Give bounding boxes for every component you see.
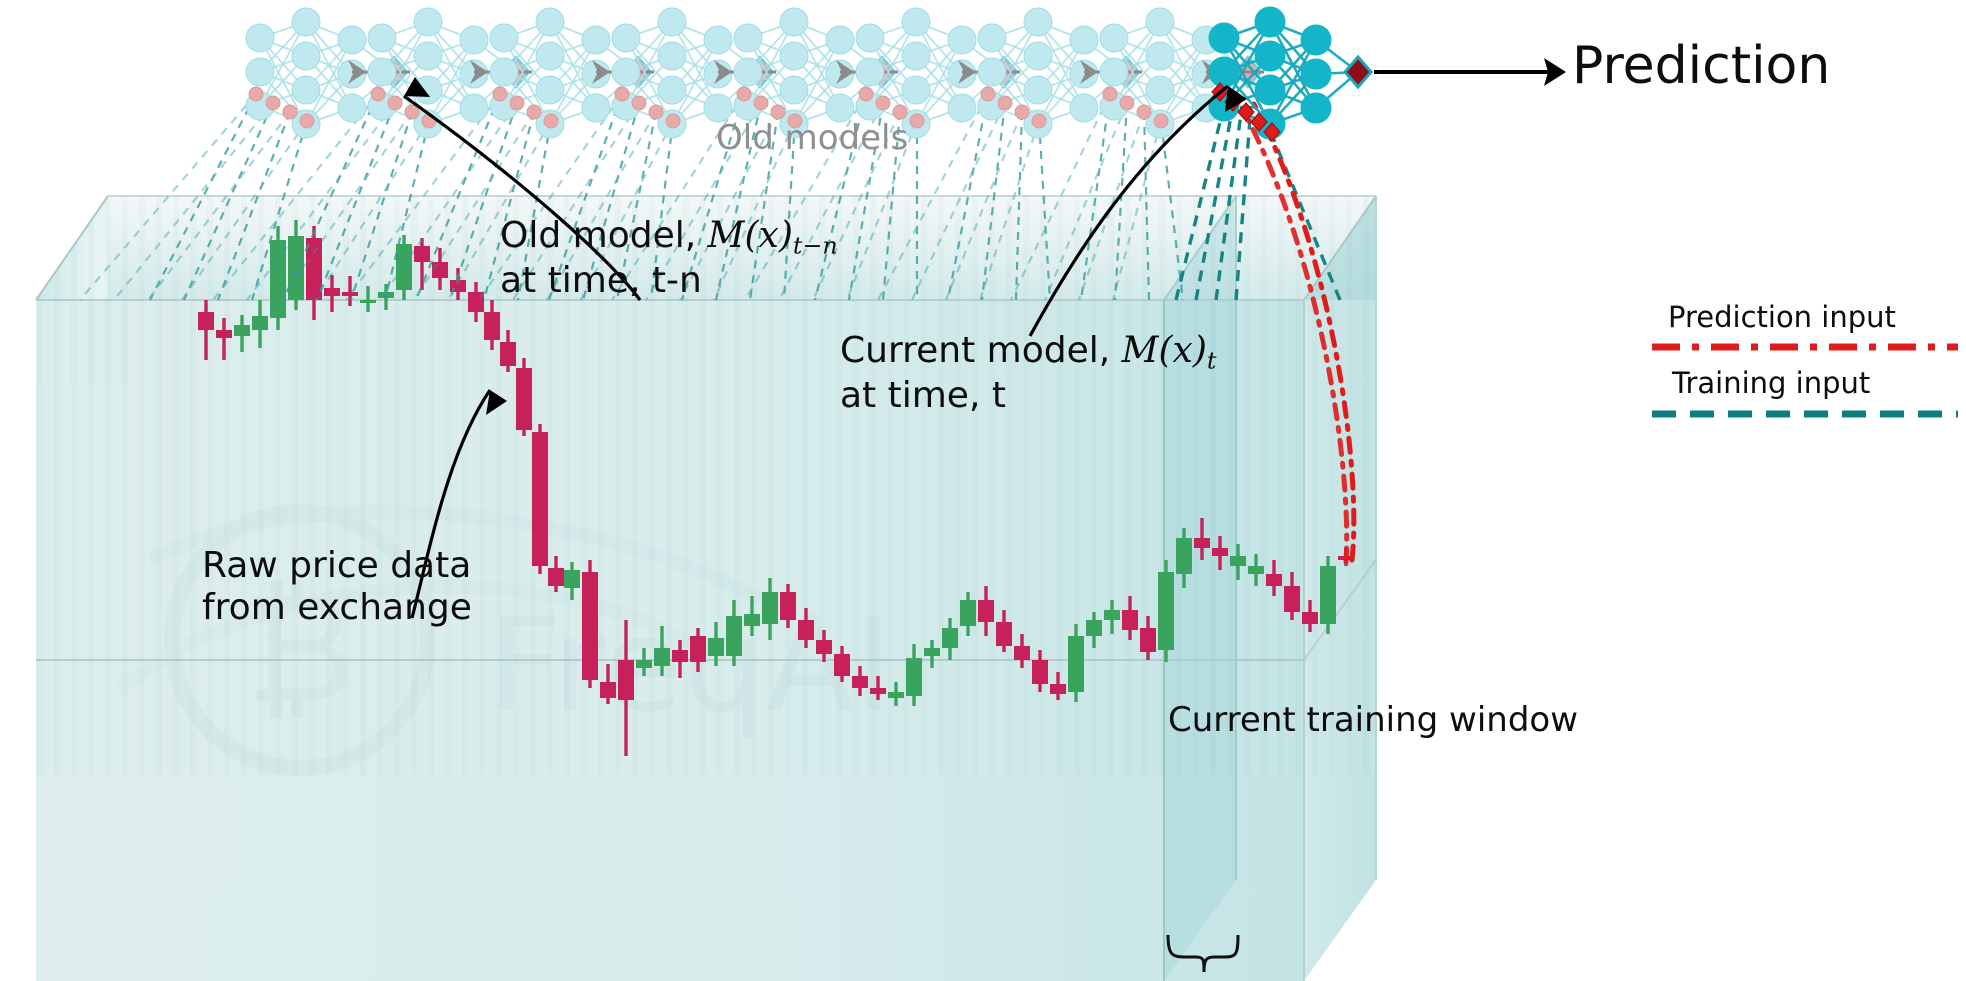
current-model-math-subscript: t bbox=[1207, 347, 1217, 375]
current-model-math-M: M bbox=[1122, 330, 1159, 371]
diagram-canvas: ₿ FreqAI bbox=[0, 0, 1966, 981]
current-model-annotation: Current model, M(x)t at time, t bbox=[840, 330, 1216, 417]
current-model-annotation-line1: Current model, M(x)t bbox=[840, 330, 1216, 375]
old-model-math-x: (x) bbox=[745, 215, 793, 256]
current-model-math-x: (x) bbox=[1159, 330, 1207, 371]
diagram-graphics: ₿ FreqAI bbox=[0, 0, 1966, 981]
old-model-annotation-line2: at time, t-n bbox=[500, 260, 838, 302]
old-model-math-M: M bbox=[708, 215, 745, 256]
raw-price-annotation-line2: from exchange bbox=[202, 587, 472, 629]
old-model-math-subscript: t−n bbox=[793, 232, 838, 260]
current-training-window-label: Current training window bbox=[1168, 700, 1578, 740]
raw-price-annotation-line1: Raw price data bbox=[202, 545, 472, 587]
old-models-label: Old models bbox=[716, 118, 908, 158]
old-model-annotation: Old model, M(x)t−n at time, t-n bbox=[500, 215, 838, 302]
old-model-annotation-line1: Old model, M(x)t−n bbox=[500, 215, 838, 260]
legend-label-training-input: Training input bbox=[1672, 366, 1870, 400]
legend-label-prediction-input: Prediction input bbox=[1668, 300, 1896, 334]
current-model-annotation-line2: at time, t bbox=[840, 375, 1216, 417]
raw-price-annotation: Raw price data from exchange bbox=[202, 545, 472, 630]
prediction-label: Prediction bbox=[1572, 36, 1830, 96]
